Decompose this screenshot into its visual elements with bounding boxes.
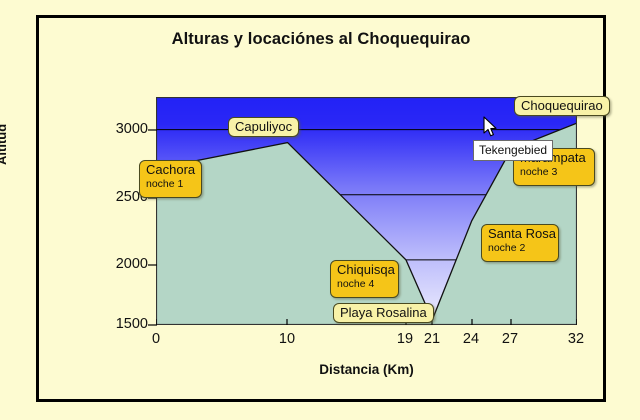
y-tick-2000: 2000	[88, 256, 148, 272]
callout-santa-rosa-sub: noche 2	[488, 242, 552, 254]
callout-capuliyoc-name: Capuliyoc	[235, 120, 292, 135]
y-axis-label: Altitud	[0, 124, 9, 165]
callout-playa-rosalina[interactable]: Playa Rosalina	[333, 303, 434, 323]
x-tick-21: 21	[412, 331, 452, 347]
callout-capuliyoc[interactable]: Capuliyoc	[228, 117, 299, 137]
callout-marampata-sub: noche 3	[520, 166, 588, 178]
callout-santa-rosa-name: Santa Rosa	[488, 227, 552, 242]
x-tick-24: 24	[451, 331, 491, 347]
callout-cachora-name: Cachora	[146, 163, 195, 178]
callout-chiquisqa-name: Chiquisqa	[337, 263, 392, 278]
x-axis-label: Distancia (Km)	[156, 362, 577, 377]
callout-chiquisqa-sub: noche 4	[337, 278, 392, 290]
x-tick-27: 27	[490, 331, 530, 347]
chart-page: Alturas y locaciónes al Choquequirao Alt…	[0, 0, 640, 420]
callout-cachora[interactable]: Cachora noche 1	[139, 160, 202, 198]
x-tick-32: 32	[556, 331, 596, 347]
y-tick-1500: 1500	[88, 316, 148, 332]
callout-choquequirao[interactable]: Choquequirao	[514, 96, 610, 116]
page-title: Alturas y locaciónes al Choquequirao	[36, 30, 606, 49]
callout-chiquisqa[interactable]: Chiquisqa noche 4	[330, 260, 399, 298]
x-tick-0: 0	[136, 331, 176, 347]
callout-cachora-sub: noche 1	[146, 178, 195, 190]
callout-playa-rosalina-name: Playa Rosalina	[340, 306, 427, 321]
callout-santa-rosa[interactable]: Santa Rosa noche 2	[481, 224, 559, 262]
y-tick-3000: 3000	[88, 121, 148, 137]
y-tick-marks	[148, 92, 160, 332]
tooltip-tekengebied: Tekengebied	[473, 140, 553, 161]
x-tick-10: 10	[267, 331, 307, 347]
callout-choquequirao-name: Choquequirao	[521, 99, 603, 114]
